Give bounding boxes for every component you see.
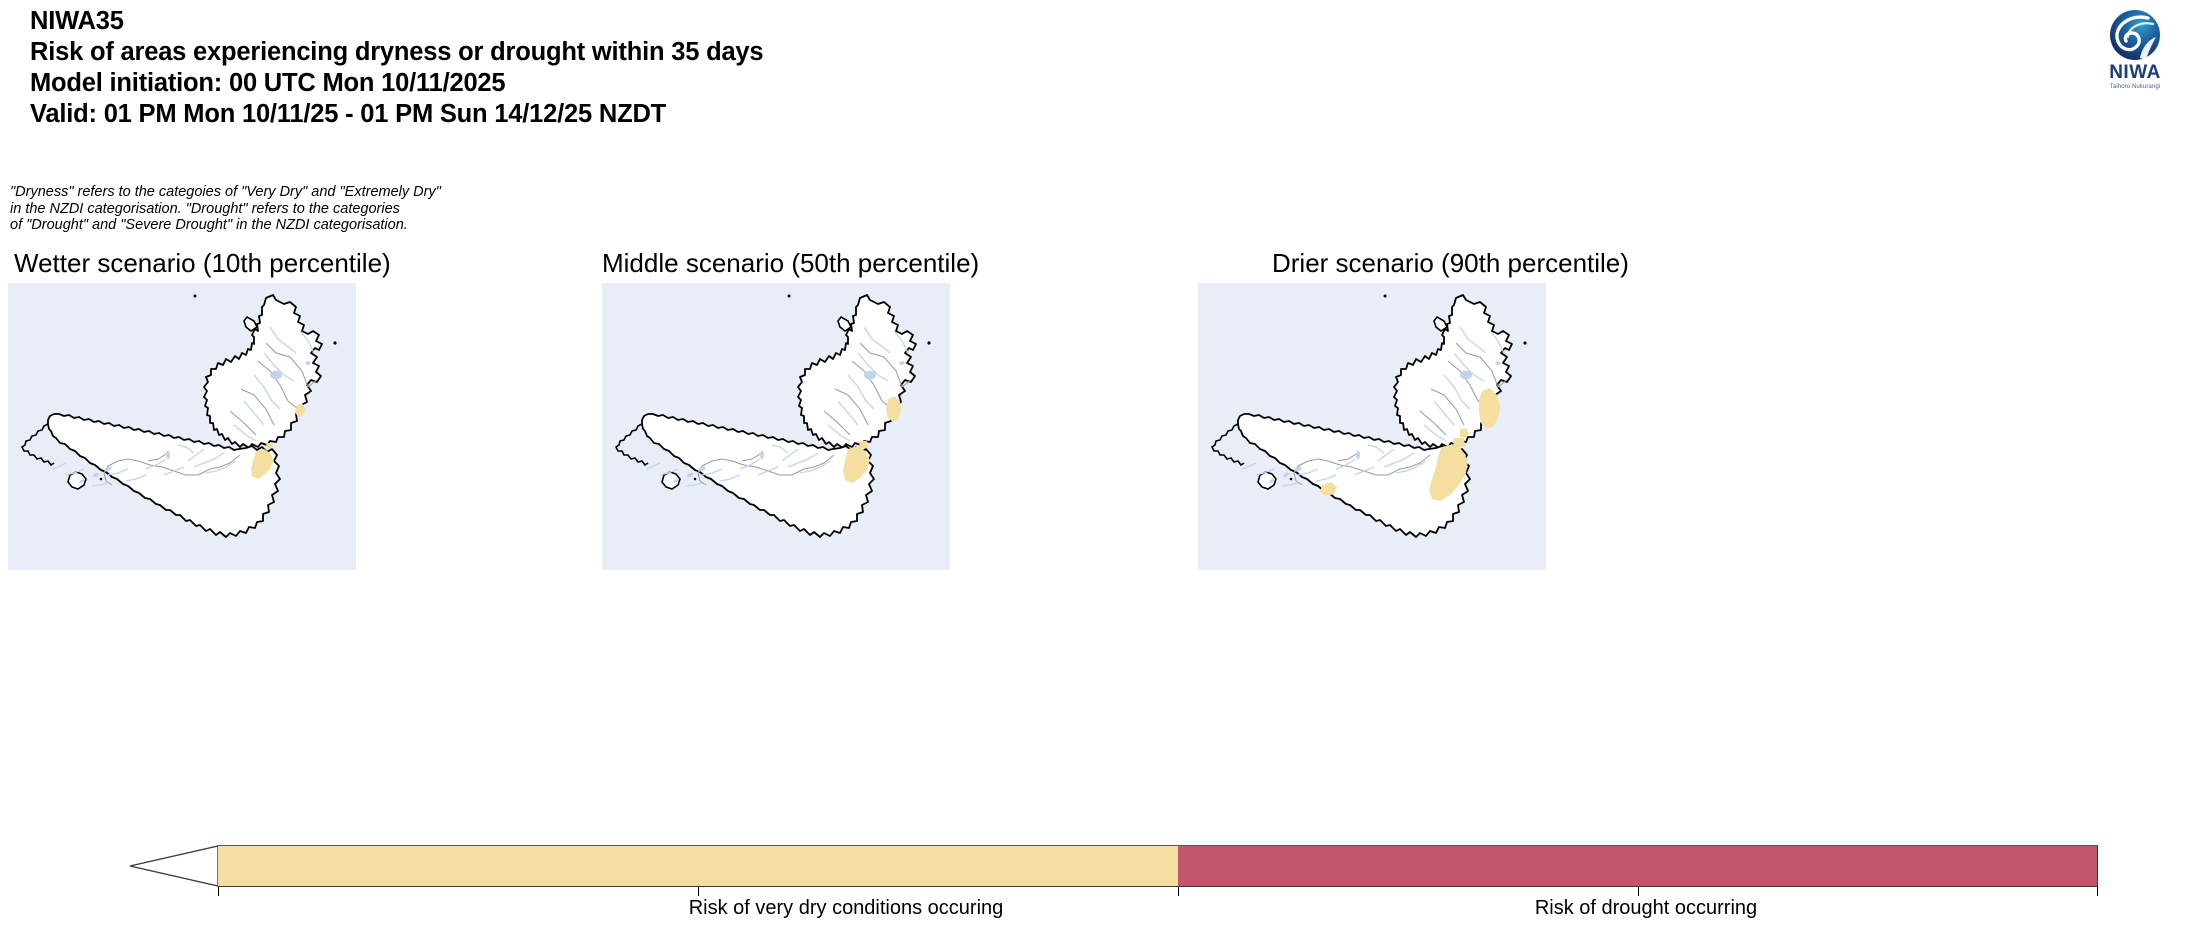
legend-tick: [2097, 887, 2098, 896]
disclaimer-line-1: "Dryness" refers to the categoies of "Ve…: [10, 184, 441, 201]
panel-title-drier: Drier scenario (90th percentile): [1272, 248, 1620, 278]
niwa-tagline: Taihoro Nukurangi: [2098, 83, 2172, 91]
header-title-block: NIWA35 Risk of areas experiencing drynes…: [30, 6, 1630, 130]
legend-tick: [1638, 887, 1639, 896]
page-title: Risk of areas experiencing dryness or dr…: [30, 37, 1630, 68]
product-code: NIWA35: [30, 6, 1630, 37]
panel-title-wetter: Wetter scenario (10th percentile): [14, 248, 356, 278]
map-middle-scenario[interactable]: [602, 283, 950, 570]
panel-middle-scenario: Middle scenario (50th percentile): [602, 248, 950, 570]
panel-drier-scenario: Drier scenario (90th percentile): [1198, 248, 1546, 570]
legend-label-drought: Risk of drought occurring: [1186, 897, 2106, 920]
map-canvas-drier: [1198, 283, 1546, 570]
map-drier-scenario[interactable]: [1198, 283, 1546, 570]
dry-area-marlborough-north: [1453, 438, 1465, 448]
valid-period-line: Valid: 01 PM Mon 10/11/25 - 01 PM Sun 14…: [30, 99, 1630, 130]
legend: Risk of very dry conditions occuring Ris…: [0, 845, 2198, 932]
model-initiation-line: Model initiation: 00 UTC Mon 10/11/2025: [30, 68, 1630, 99]
legend-colorbar[interactable]: Risk of very dry conditions occuring Ris…: [128, 845, 2098, 887]
disclaimer-line-3: of "Drought" and "Severe Drought" in the…: [10, 217, 441, 234]
legend-tick: [698, 887, 699, 896]
map-canvas-middle: [602, 283, 950, 570]
niwa-wordmark: NIWA: [2098, 63, 2172, 83]
legend-tick: [1178, 887, 1179, 896]
dry-area-marlborough-north: [266, 443, 273, 449]
panel-title-middle: Middle scenario (50th percentile): [602, 248, 950, 278]
legend-segment-very-dry[interactable]: [218, 845, 1178, 887]
niwa-koru-icon: [2098, 6, 2172, 64]
dry-area-marlborough-north: [859, 441, 868, 449]
map-wetter-scenario[interactable]: [8, 283, 356, 570]
disclaimer-line-2: in the NZDI categorisation. "Drought" re…: [10, 201, 441, 218]
legend-segment-drought[interactable]: [1178, 845, 2098, 887]
map-canvas-wetter: [8, 283, 356, 570]
panel-wetter-scenario: Wetter scenario (10th percentile): [8, 248, 356, 570]
niwa-logo: NIWA Taihoro Nukurangi: [2098, 6, 2172, 92]
legend-arrow-left-icon: [128, 845, 219, 887]
legend-tick: [218, 887, 219, 896]
disclaimer-note: "Dryness" refers to the categoies of "Ve…: [10, 184, 441, 234]
